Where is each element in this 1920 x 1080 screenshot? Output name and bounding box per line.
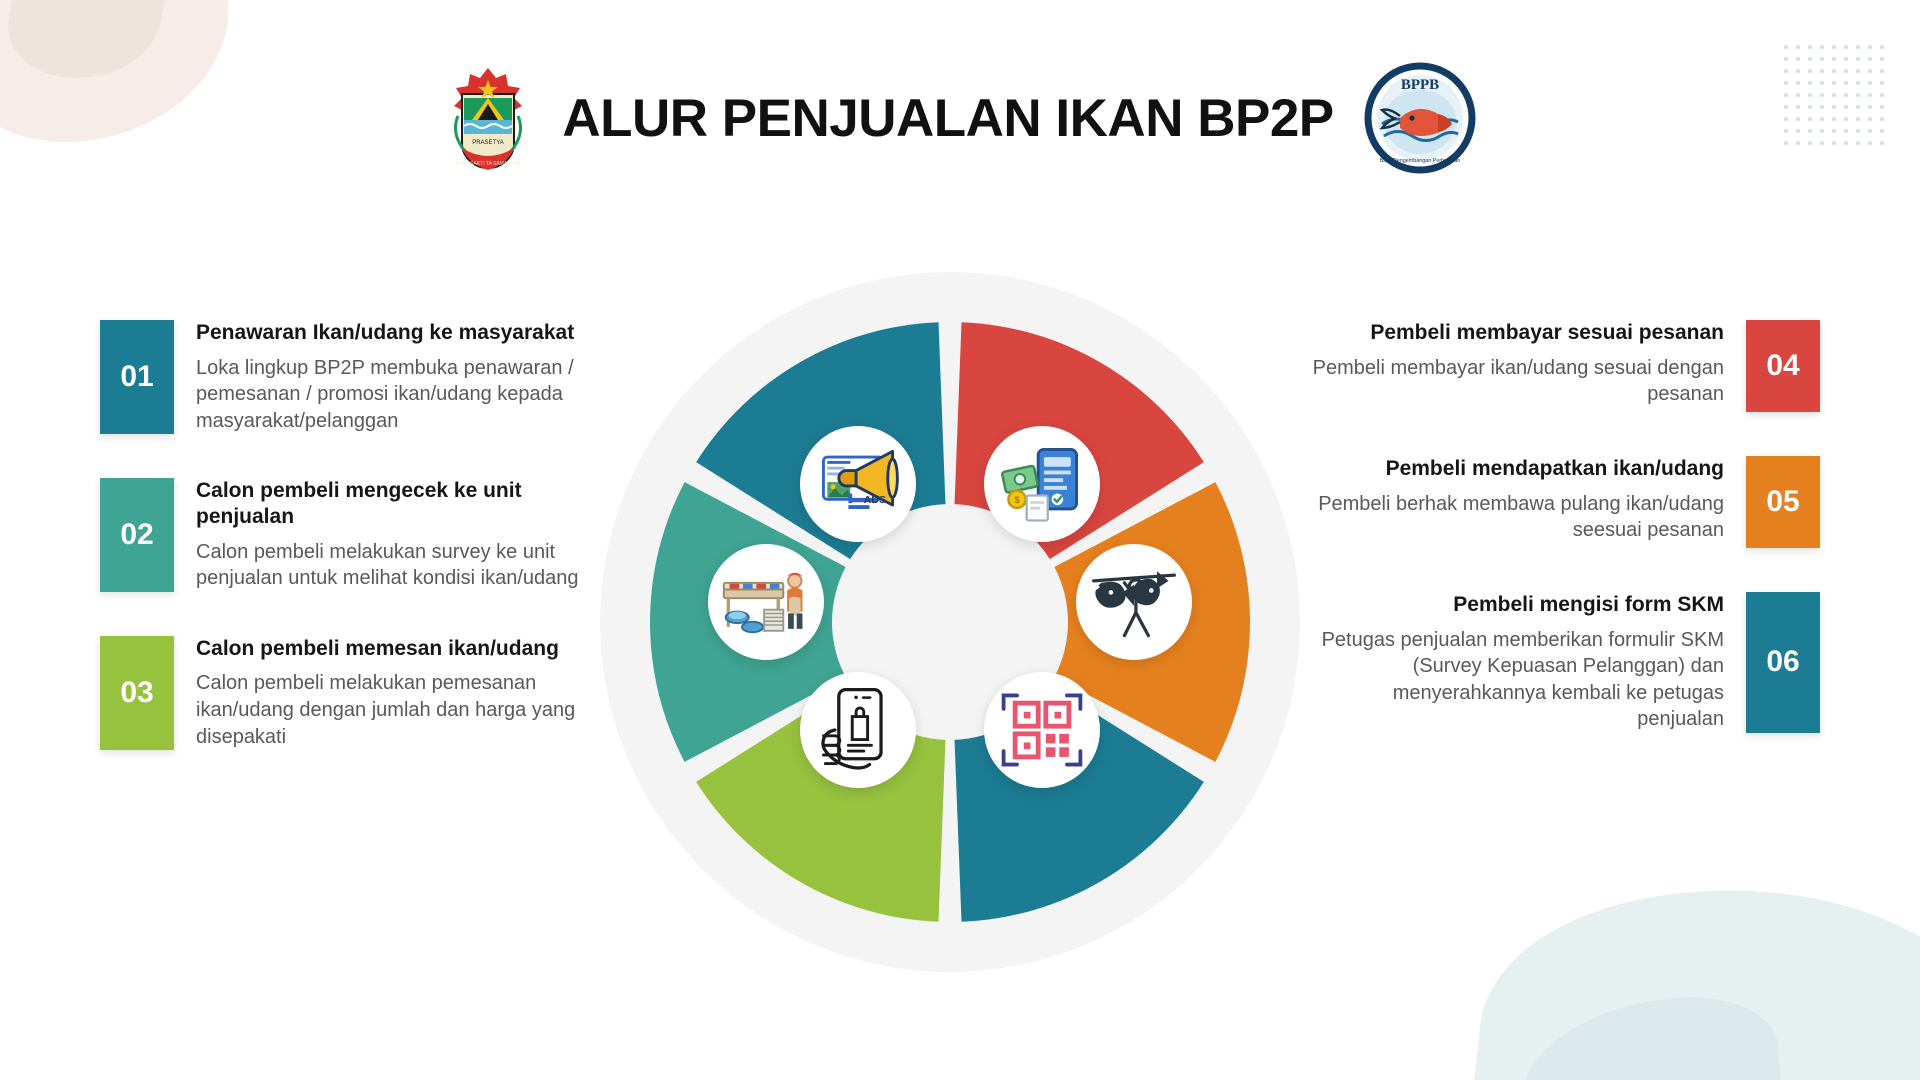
step-title-03: Calon pembeli memesan ikan/udang (196, 636, 618, 662)
step-number-badge-02: 02 (100, 478, 174, 591)
step-item-06[interactable]: 06Pembeli mengisi form SKMPetugas penjua… (1280, 592, 1820, 733)
steps-column-left: 01Penawaran Ikan/udang ke masyarakatLoka… (100, 320, 640, 794)
money-card-payment-icon[interactable]: $ (984, 426, 1100, 542)
step-item-04[interactable]: 04Pembeli membayar sesuai pesananPembeli… (1280, 320, 1820, 412)
step-title-02: Calon pembeli mengecek ke unit penjualan (196, 478, 618, 529)
step-body-06: Pembeli mengisi form SKMPetugas penjuala… (1280, 592, 1746, 733)
svg-text:Balai Pengembangan Perbenihan: Balai Pengembangan Perbenihan (1379, 158, 1460, 164)
step-number-badge-06: 06 (1746, 592, 1820, 733)
process-wheel: ADS $ (600, 272, 1300, 972)
svg-text:PRASETYA: PRASETYA (473, 140, 505, 146)
step-body-04: Pembeli membayar sesuai pesananPembeli m… (1280, 320, 1746, 412)
step-body-02: Calon pembeli mengecek ke unit penjualan… (174, 478, 640, 591)
step-number-badge-04: 04 (1746, 320, 1820, 412)
step-item-02[interactable]: 02Calon pembeli mengecek ke unit penjual… (100, 478, 640, 591)
svg-text:BPPB: BPPB (1400, 77, 1438, 93)
step-description-03: Calon pembeli melakukan pemesanan ikan/u… (196, 670, 618, 750)
step-item-03[interactable]: 03Calon pembeli memesan ikan/udangCalon … (100, 636, 640, 750)
step-item-01[interactable]: 01Penawaran Ikan/udang ke masyarakatLoka… (100, 320, 640, 434)
step-description-05: Pembeli berhak membawa pulang ikan/udang… (1302, 491, 1724, 544)
step-title-04: Pembeli membayar sesuai pesanan (1302, 320, 1724, 346)
bppb-logo-icon: BPPB Balai Pengembangan Perbenihan (1364, 62, 1476, 174)
fish-market-stall-icon[interactable] (708, 544, 824, 660)
svg-text:ULAH SAKTI TA SAMAKTHA: ULAH SAKTI TA SAMAKTHA (456, 161, 522, 167)
step-description-04: Pembeli membayar ikan/udang sesuai denga… (1302, 355, 1724, 408)
step-body-05: Pembeli mendapatkan ikan/udangPembeli be… (1280, 456, 1746, 548)
step-body-01: Penawaran Ikan/udang ke masyarakatLoka l… (174, 320, 640, 434)
step-title-01: Penawaran Ikan/udang ke masyarakat (196, 320, 618, 346)
fisherman-carrying-fish-icon[interactable] (1076, 544, 1192, 660)
step-title-06: Pembeli mengisi form SKM (1302, 592, 1724, 618)
step-description-06: Petugas penjualan memberikan formulir SK… (1302, 627, 1724, 733)
page-header: PRASETYA ULAH SAKTI TA SAMAKTHA ALUR PEN… (0, 58, 1920, 178)
page-title: ALUR PENJUALAN IKAN BP2P (562, 88, 1333, 149)
wheel-segments (600, 272, 1300, 972)
hand-holding-phone-order-icon[interactable] (800, 672, 916, 788)
svg-text:$: $ (1014, 495, 1020, 506)
step-number-badge-01: 01 (100, 320, 174, 434)
steps-column-right: 04Pembeli membayar sesuai pesananPembeli… (1280, 320, 1820, 777)
svg-text:ADS: ADS (864, 494, 886, 506)
megaphone-ads-monitor-icon[interactable]: ADS (800, 426, 916, 542)
step-description-01: Loka lingkup BP2P membuka penawaran / pe… (196, 355, 618, 435)
step-body-03: Calon pembeli memesan ikan/udangCalon pe… (174, 636, 640, 750)
step-item-05[interactable]: 05Pembeli mendapatkan ikan/udangPembeli … (1280, 456, 1820, 548)
step-number-badge-05: 05 (1746, 456, 1820, 548)
jawa-tengah-crest-icon: PRASETYA ULAH SAKTI TA SAMAKTHA (444, 64, 532, 172)
qr-code-scan-icon[interactable] (984, 672, 1100, 788)
step-description-02: Calon pembeli melakukan survey ke unit p… (196, 539, 618, 592)
step-number-badge-03: 03 (100, 636, 174, 750)
step-title-05: Pembeli mendapatkan ikan/udang (1302, 456, 1724, 482)
